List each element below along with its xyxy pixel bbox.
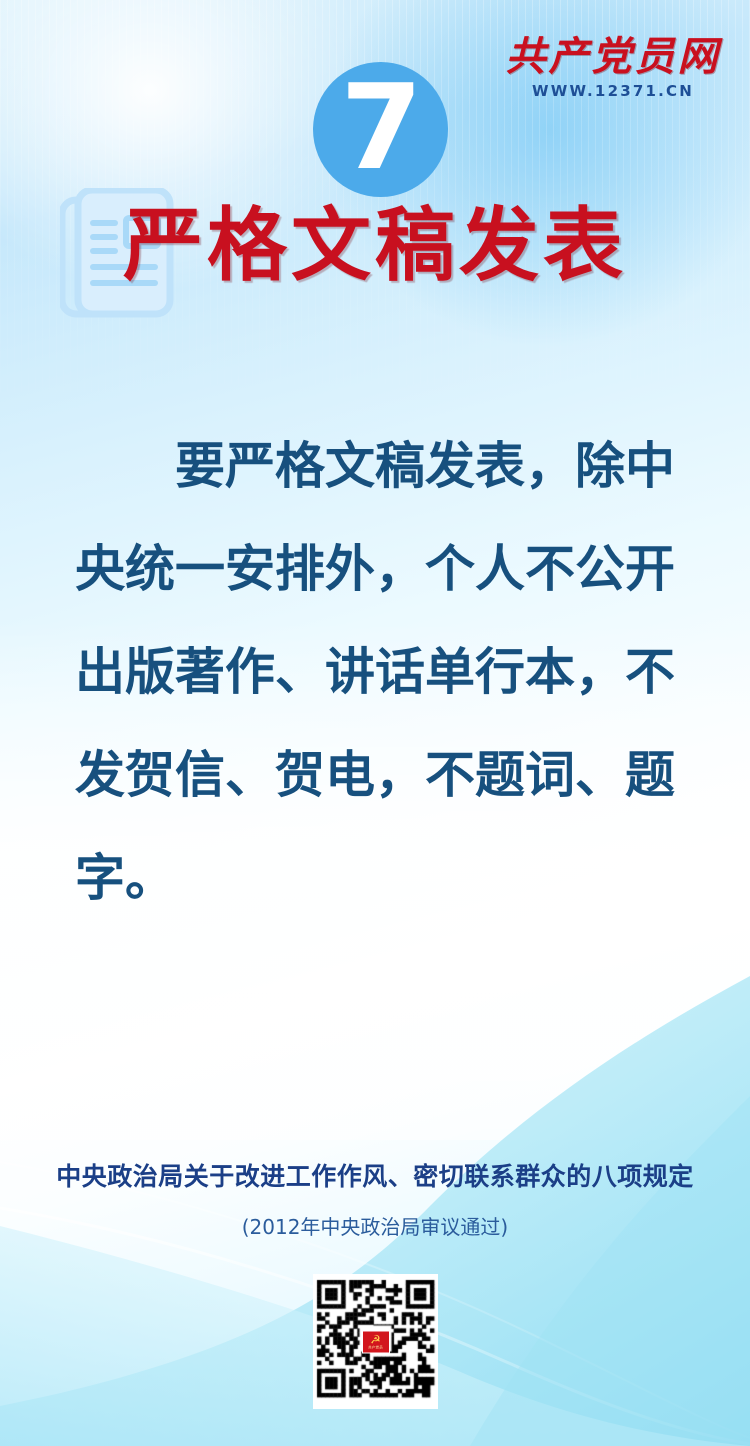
item-number: 7	[340, 68, 420, 186]
item-number-badge: 7	[313, 62, 448, 197]
regulation-source-title: 中央政治局关于改进工作作风、密切联系群众的八项规定	[0, 1157, 750, 1193]
regulation-body-text: 要严格文稿发表，除中央统一安排外，个人不公开出版著作、讲话单行本，不发贺信、贺电…	[75, 415, 675, 930]
qr-code[interactable]: ☭ 共产党员	[313, 1274, 438, 1409]
hammer-sickle-glyph: ☭	[370, 1333, 381, 1345]
brand-url: WWW.12371.CN	[498, 82, 728, 100]
emblem-caption: 共产党员	[368, 1346, 383, 1350]
heading-block: 严格文稿发表	[0, 186, 750, 316]
regulation-source-subtitle: (2012年中央政治局审议通过)	[0, 1211, 750, 1240]
party-emblem-icon: ☭ 共产党员	[362, 1330, 390, 1353]
brand-name: 共产党员网	[498, 36, 728, 78]
poster-canvas: 共产党员网 WWW.12371.CN 7 严格文稿发表 要严格文稿发表，除中央统…	[0, 0, 750, 1446]
site-brand-logo[interactable]: 共产党员网 WWW.12371.CN	[498, 36, 728, 100]
page-title: 严格文稿发表	[0, 206, 750, 286]
